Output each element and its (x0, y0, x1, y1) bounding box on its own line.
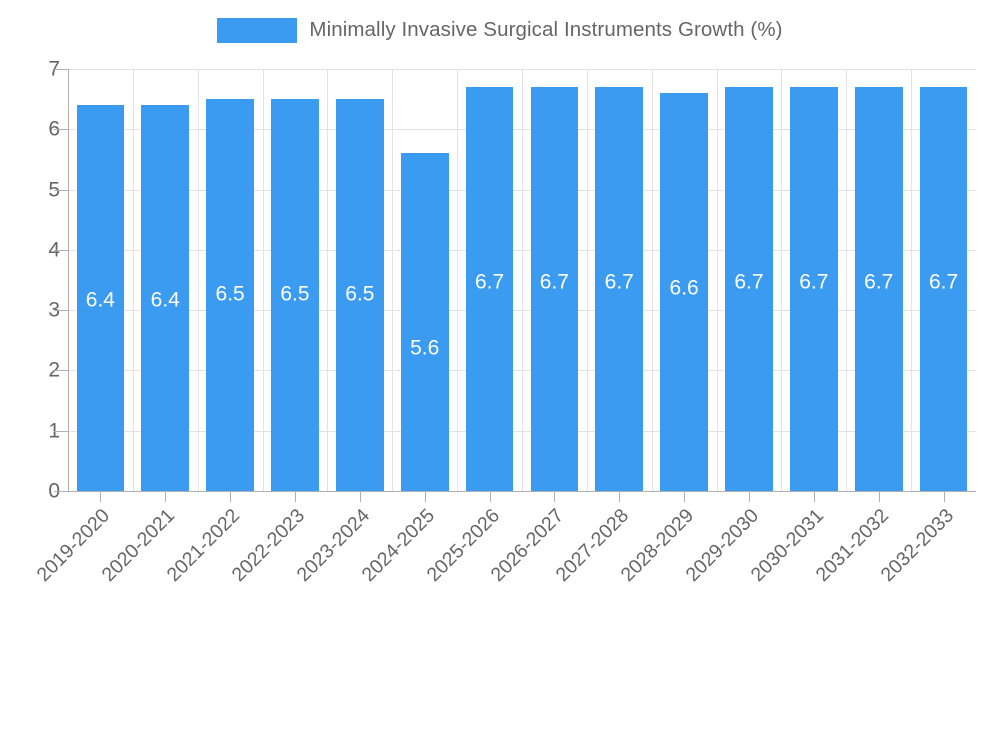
y-axis-line (68, 69, 69, 492)
bar-value-label: 6.7 (790, 272, 838, 293)
y-axis-tick-mark (54, 370, 68, 371)
bar-value-label: 6.7 (595, 272, 643, 293)
legend-label: Minimally Invasive Surgical Instruments … (309, 18, 782, 42)
x-axis-tick-mark (360, 492, 361, 502)
bar-value-label: 6.4 (141, 290, 189, 311)
bar-value-label: 6.5 (271, 284, 319, 305)
x-axis-tick-mark (814, 492, 815, 502)
bar[interactable]: 6.7 (855, 87, 903, 491)
x-axis-tick-mark (230, 492, 231, 502)
bar-value-label: 6.6 (660, 278, 708, 299)
y-axis-tick-mark (54, 250, 68, 251)
x-axis-tick-mark (425, 492, 426, 502)
y-axis-tick-mark (54, 310, 68, 311)
bar[interactable]: 6.4 (77, 105, 125, 491)
x-axis-tick-mark (165, 492, 166, 502)
bar[interactable]: 6.7 (725, 87, 773, 491)
bar[interactable]: 5.6 (401, 153, 449, 491)
bar-value-label: 6.4 (77, 290, 125, 311)
gridline-vertical (911, 69, 912, 491)
bar[interactable]: 6.7 (920, 87, 968, 491)
gridline-vertical (198, 69, 199, 491)
gridline-vertical (652, 69, 653, 491)
bar[interactable]: 6.5 (336, 99, 384, 491)
bar[interactable]: 6.7 (790, 87, 838, 491)
y-axis-tick-mark (54, 69, 68, 70)
gridline-vertical (522, 69, 523, 491)
bar[interactable]: 6.5 (271, 99, 319, 491)
x-axis-tick-mark (944, 492, 945, 502)
bar-value-label: 5.6 (401, 338, 449, 359)
gridline-vertical (846, 69, 847, 491)
bar[interactable]: 6.5 (206, 99, 254, 491)
y-axis-tick-mark (54, 129, 68, 130)
bar-chart: Minimally Invasive Surgical Instruments … (0, 0, 1000, 600)
x-axis-tick-mark (490, 492, 491, 502)
bar-value-label: 6.5 (206, 284, 254, 305)
x-axis-tick-mark (295, 492, 296, 502)
x-axis-tick-mark (554, 492, 555, 502)
x-axis-tick-mark (100, 492, 101, 502)
x-axis-tick-mark (749, 492, 750, 502)
bar[interactable]: 6.6 (660, 93, 708, 491)
gridline-vertical (392, 69, 393, 491)
gridline-vertical (327, 69, 328, 491)
x-axis-tick-mark (879, 492, 880, 502)
bar-value-label: 6.7 (920, 272, 968, 293)
y-axis: 01234567 (0, 0, 60, 600)
gridline-vertical (587, 69, 588, 491)
legend-entry-series-0[interactable]: Minimally Invasive Surgical Instruments … (217, 18, 782, 43)
y-axis-tick-mark (54, 431, 68, 432)
bar[interactable]: 6.4 (141, 105, 189, 491)
bar-value-label: 6.7 (725, 272, 773, 293)
bar[interactable]: 6.7 (466, 87, 514, 491)
x-axis-tick-mark (619, 492, 620, 502)
legend-color-swatch (217, 18, 297, 43)
y-axis-tick-mark (54, 190, 68, 191)
x-axis-tick-mark (684, 492, 685, 502)
gridline-vertical (133, 69, 134, 491)
bar-value-label: 6.7 (466, 272, 514, 293)
chart-legend: Minimally Invasive Surgical Instruments … (0, 0, 1000, 60)
bar[interactable]: 6.7 (595, 87, 643, 491)
bar-value-label: 6.7 (531, 272, 579, 293)
gridline-vertical (457, 69, 458, 491)
bar-value-label: 6.5 (336, 284, 384, 305)
gridline-vertical (717, 69, 718, 491)
plot-area: 6.46.46.56.56.55.66.76.76.76.66.76.76.76… (68, 69, 976, 491)
bar[interactable]: 6.7 (531, 87, 579, 491)
x-axis-line (54, 491, 976, 492)
bar-value-label: 6.7 (855, 272, 903, 293)
gridline-vertical (263, 69, 264, 491)
gridline-vertical (781, 69, 782, 491)
